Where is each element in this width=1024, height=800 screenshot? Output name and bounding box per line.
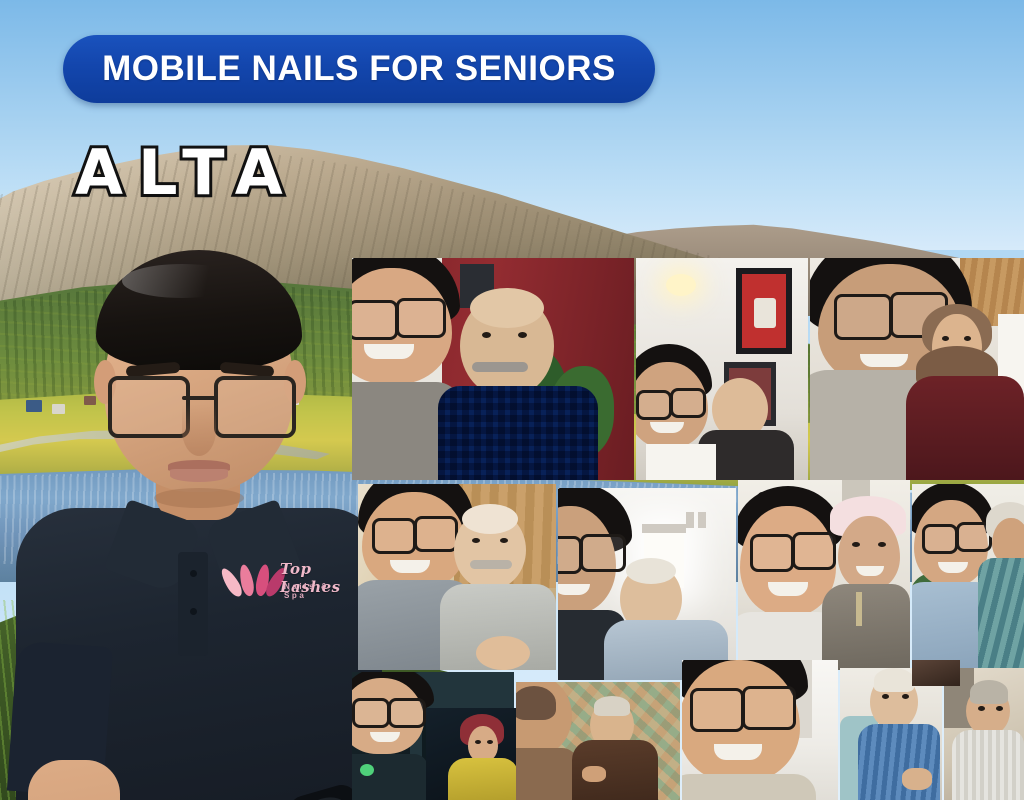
- collage-photo[interactable]: [912, 484, 1024, 670]
- lens-left: [108, 376, 190, 438]
- collage-photo[interactable]: [738, 480, 910, 670]
- arm-left: [28, 760, 120, 800]
- headline-banner[interactable]: MOBILE NAILS FOR SENIORS: [63, 35, 655, 103]
- shirt-placket: [178, 552, 208, 656]
- shirt-button: [190, 608, 197, 615]
- collage-photo[interactable]: [682, 660, 838, 800]
- collage-photo[interactable]: [840, 668, 942, 800]
- chin-shadow: [154, 488, 244, 508]
- lotus-flower-icon: [234, 562, 274, 596]
- collage-photo[interactable]: [944, 668, 1024, 800]
- collage-photo[interactable]: [352, 258, 634, 480]
- collage-photo[interactable]: [358, 484, 556, 670]
- technician-portrait: Top Lashes Nails & Spa: [38, 252, 358, 800]
- shirt-button: [190, 570, 197, 577]
- poster-canvas: ALTA: [0, 0, 1024, 800]
- client-photo-collage: [352, 258, 1024, 800]
- brand-logo: Top Lashes Nails & Spa: [234, 550, 354, 612]
- lower-lip: [170, 469, 228, 482]
- lens-right: [214, 376, 296, 438]
- nose: [182, 404, 216, 456]
- collage-photo[interactable]: [912, 660, 960, 686]
- collage-photo[interactable]: [558, 488, 736, 680]
- headline-text: MOBILE NAILS FOR SENIORS: [102, 49, 616, 89]
- collage-photo[interactable]: [810, 258, 1024, 480]
- location-wordmark: ALTA: [75, 136, 298, 209]
- glasses-bridge: [182, 396, 218, 400]
- brand-tagline: Nails & Spa: [284, 582, 354, 600]
- hair-sheen: [122, 264, 242, 298]
- collage-photo[interactable]: [516, 682, 680, 800]
- collage-photo[interactable]: [636, 258, 808, 480]
